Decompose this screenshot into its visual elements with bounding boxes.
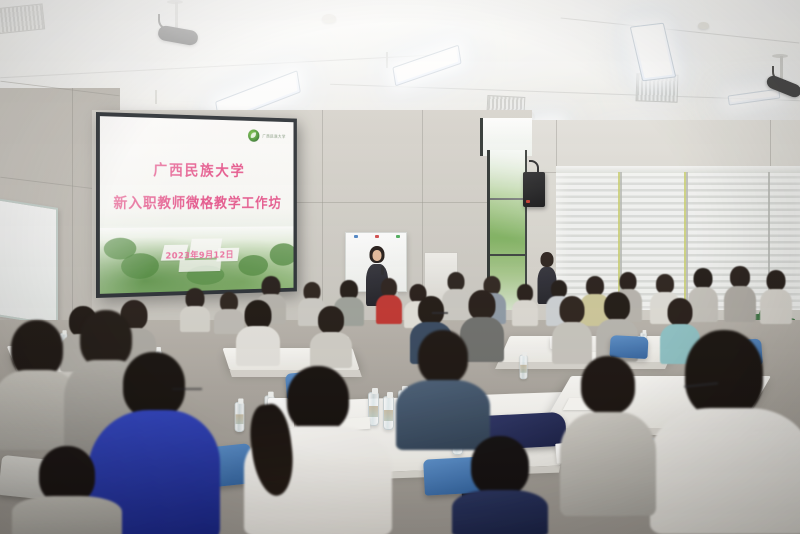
slide: 广西民族大学 广西民族大学 新入职教师微格教学工作坊 2023年9月12日 [100, 116, 294, 294]
microphone [381, 266, 384, 275]
air-vent [0, 3, 45, 34]
attendee [512, 284, 538, 326]
attendee-white-tshirt [650, 330, 800, 534]
smoke-detector-icon [322, 14, 336, 23]
university-leaf-logo-icon [248, 129, 259, 142]
attendee [236, 300, 280, 366]
water-bottle [235, 402, 245, 432]
attendee [396, 330, 490, 450]
whiteboard [0, 198, 58, 326]
attendee [180, 288, 210, 332]
ceiling-seam [561, 17, 800, 43]
attendee [552, 296, 592, 364]
workshop-photo: 新入职教师微格教学工作坊会场照片 会议室内参会教师背向镜头就座，前方投影幕播放工… [0, 0, 800, 534]
ceiling-projector [752, 56, 800, 100]
fluorescent-light-fixture [728, 88, 781, 105]
slide-title: 广西民族大学 [100, 158, 294, 181]
attendee-red-top [376, 278, 402, 324]
projection-screen: 广西民族大学 广西民族大学 新入职教师微格教学工作坊 2023年9月12日 [96, 112, 297, 298]
attendee [310, 306, 352, 368]
water-bottle [520, 355, 528, 379]
logo-wordmark: 广西民族大学 [262, 133, 286, 139]
ceiling-seam [0, 55, 429, 79]
ceiling-hanger [155, 90, 157, 104]
attendee [560, 356, 656, 516]
attendee [760, 270, 792, 324]
fluorescent-light-fixture [392, 45, 461, 87]
attendee [724, 266, 756, 322]
fluorescent-light-fixture [630, 23, 677, 82]
air-vent [636, 73, 679, 102]
slide-subtitle: 新入职教师微格教学工作坊 [100, 192, 294, 213]
slide-logo: 广西民族大学 [248, 129, 285, 142]
ceiling-projector [140, 2, 210, 46]
ceiling-seam [330, 84, 800, 101]
wall-speaker [523, 172, 545, 207]
ceiling-hanger [386, 52, 388, 68]
attendee [452, 436, 548, 534]
smoke-detector-icon [698, 22, 709, 29]
attendee [12, 446, 122, 534]
